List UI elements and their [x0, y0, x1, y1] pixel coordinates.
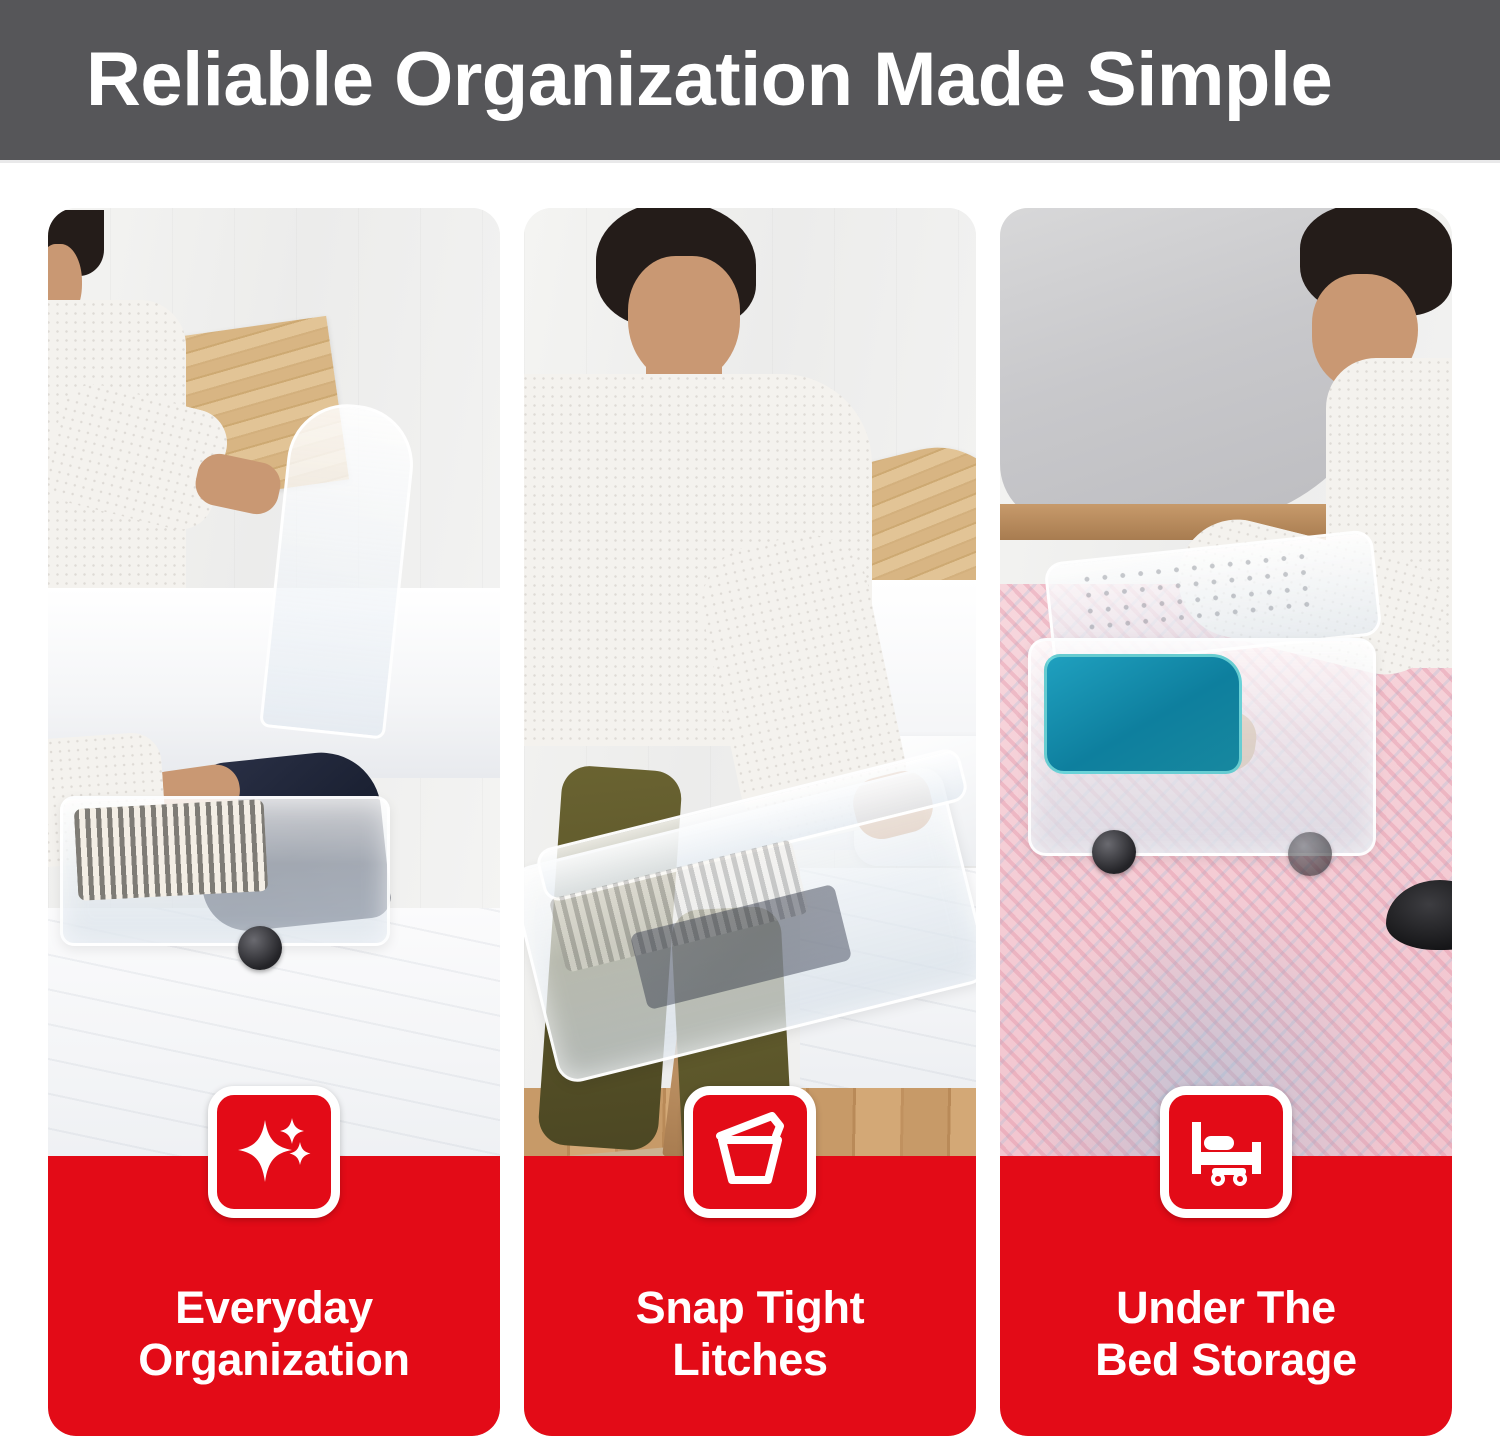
bed-with-storage-icon — [1160, 1086, 1292, 1218]
header-divider — [0, 160, 1500, 163]
storage-box-caster-wheel-left — [1092, 830, 1136, 874]
caption-text-snap-tight-latches: Snap Tight Litches — [524, 1282, 976, 1386]
caption-line-1: Snap Tight — [636, 1282, 865, 1333]
caption-line-1: Under The — [1116, 1282, 1336, 1333]
header-bar: Reliable Organization Made Simple — [0, 0, 1500, 160]
feature-panel-row: Everyday Organization — [48, 208, 1452, 1436]
caption-under-bed-storage: Under The Bed Storage — [1000, 1156, 1452, 1436]
patterned-folded-textile — [74, 799, 269, 901]
caption-line-2: Litches — [672, 1334, 827, 1385]
storage-box-caster-wheel — [238, 926, 282, 970]
bin-with-open-lid-icon — [684, 1086, 816, 1218]
caption-line-1: Everyday — [175, 1282, 373, 1333]
caption-line-2: Organization — [138, 1334, 409, 1385]
page-title: Reliable Organization Made Simple — [86, 42, 1332, 118]
infographic-page: Reliable Organization Made Simple — [0, 0, 1500, 1454]
caption-snap-tight-latches: Snap Tight Litches — [524, 1156, 976, 1436]
feature-panel-under-bed-storage[interactable]: Under The Bed Storage — [1000, 208, 1452, 1436]
caption-text-everyday-organization: Everyday Organization — [48, 1282, 500, 1386]
feature-panel-snap-tight-latches[interactable]: Snap Tight Litches — [524, 208, 976, 1436]
storage-box-caster-wheel-right — [1288, 832, 1332, 876]
caption-everyday-organization: Everyday Organization — [48, 1156, 500, 1436]
feature-panel-everyday-organization[interactable]: Everyday Organization — [48, 208, 500, 1436]
caption-text-under-bed-storage: Under The Bed Storage — [1000, 1282, 1452, 1386]
caption-line-2: Bed Storage — [1095, 1334, 1357, 1385]
sparkle-icon — [208, 1086, 340, 1218]
teal-folded-fabric — [1044, 654, 1242, 774]
